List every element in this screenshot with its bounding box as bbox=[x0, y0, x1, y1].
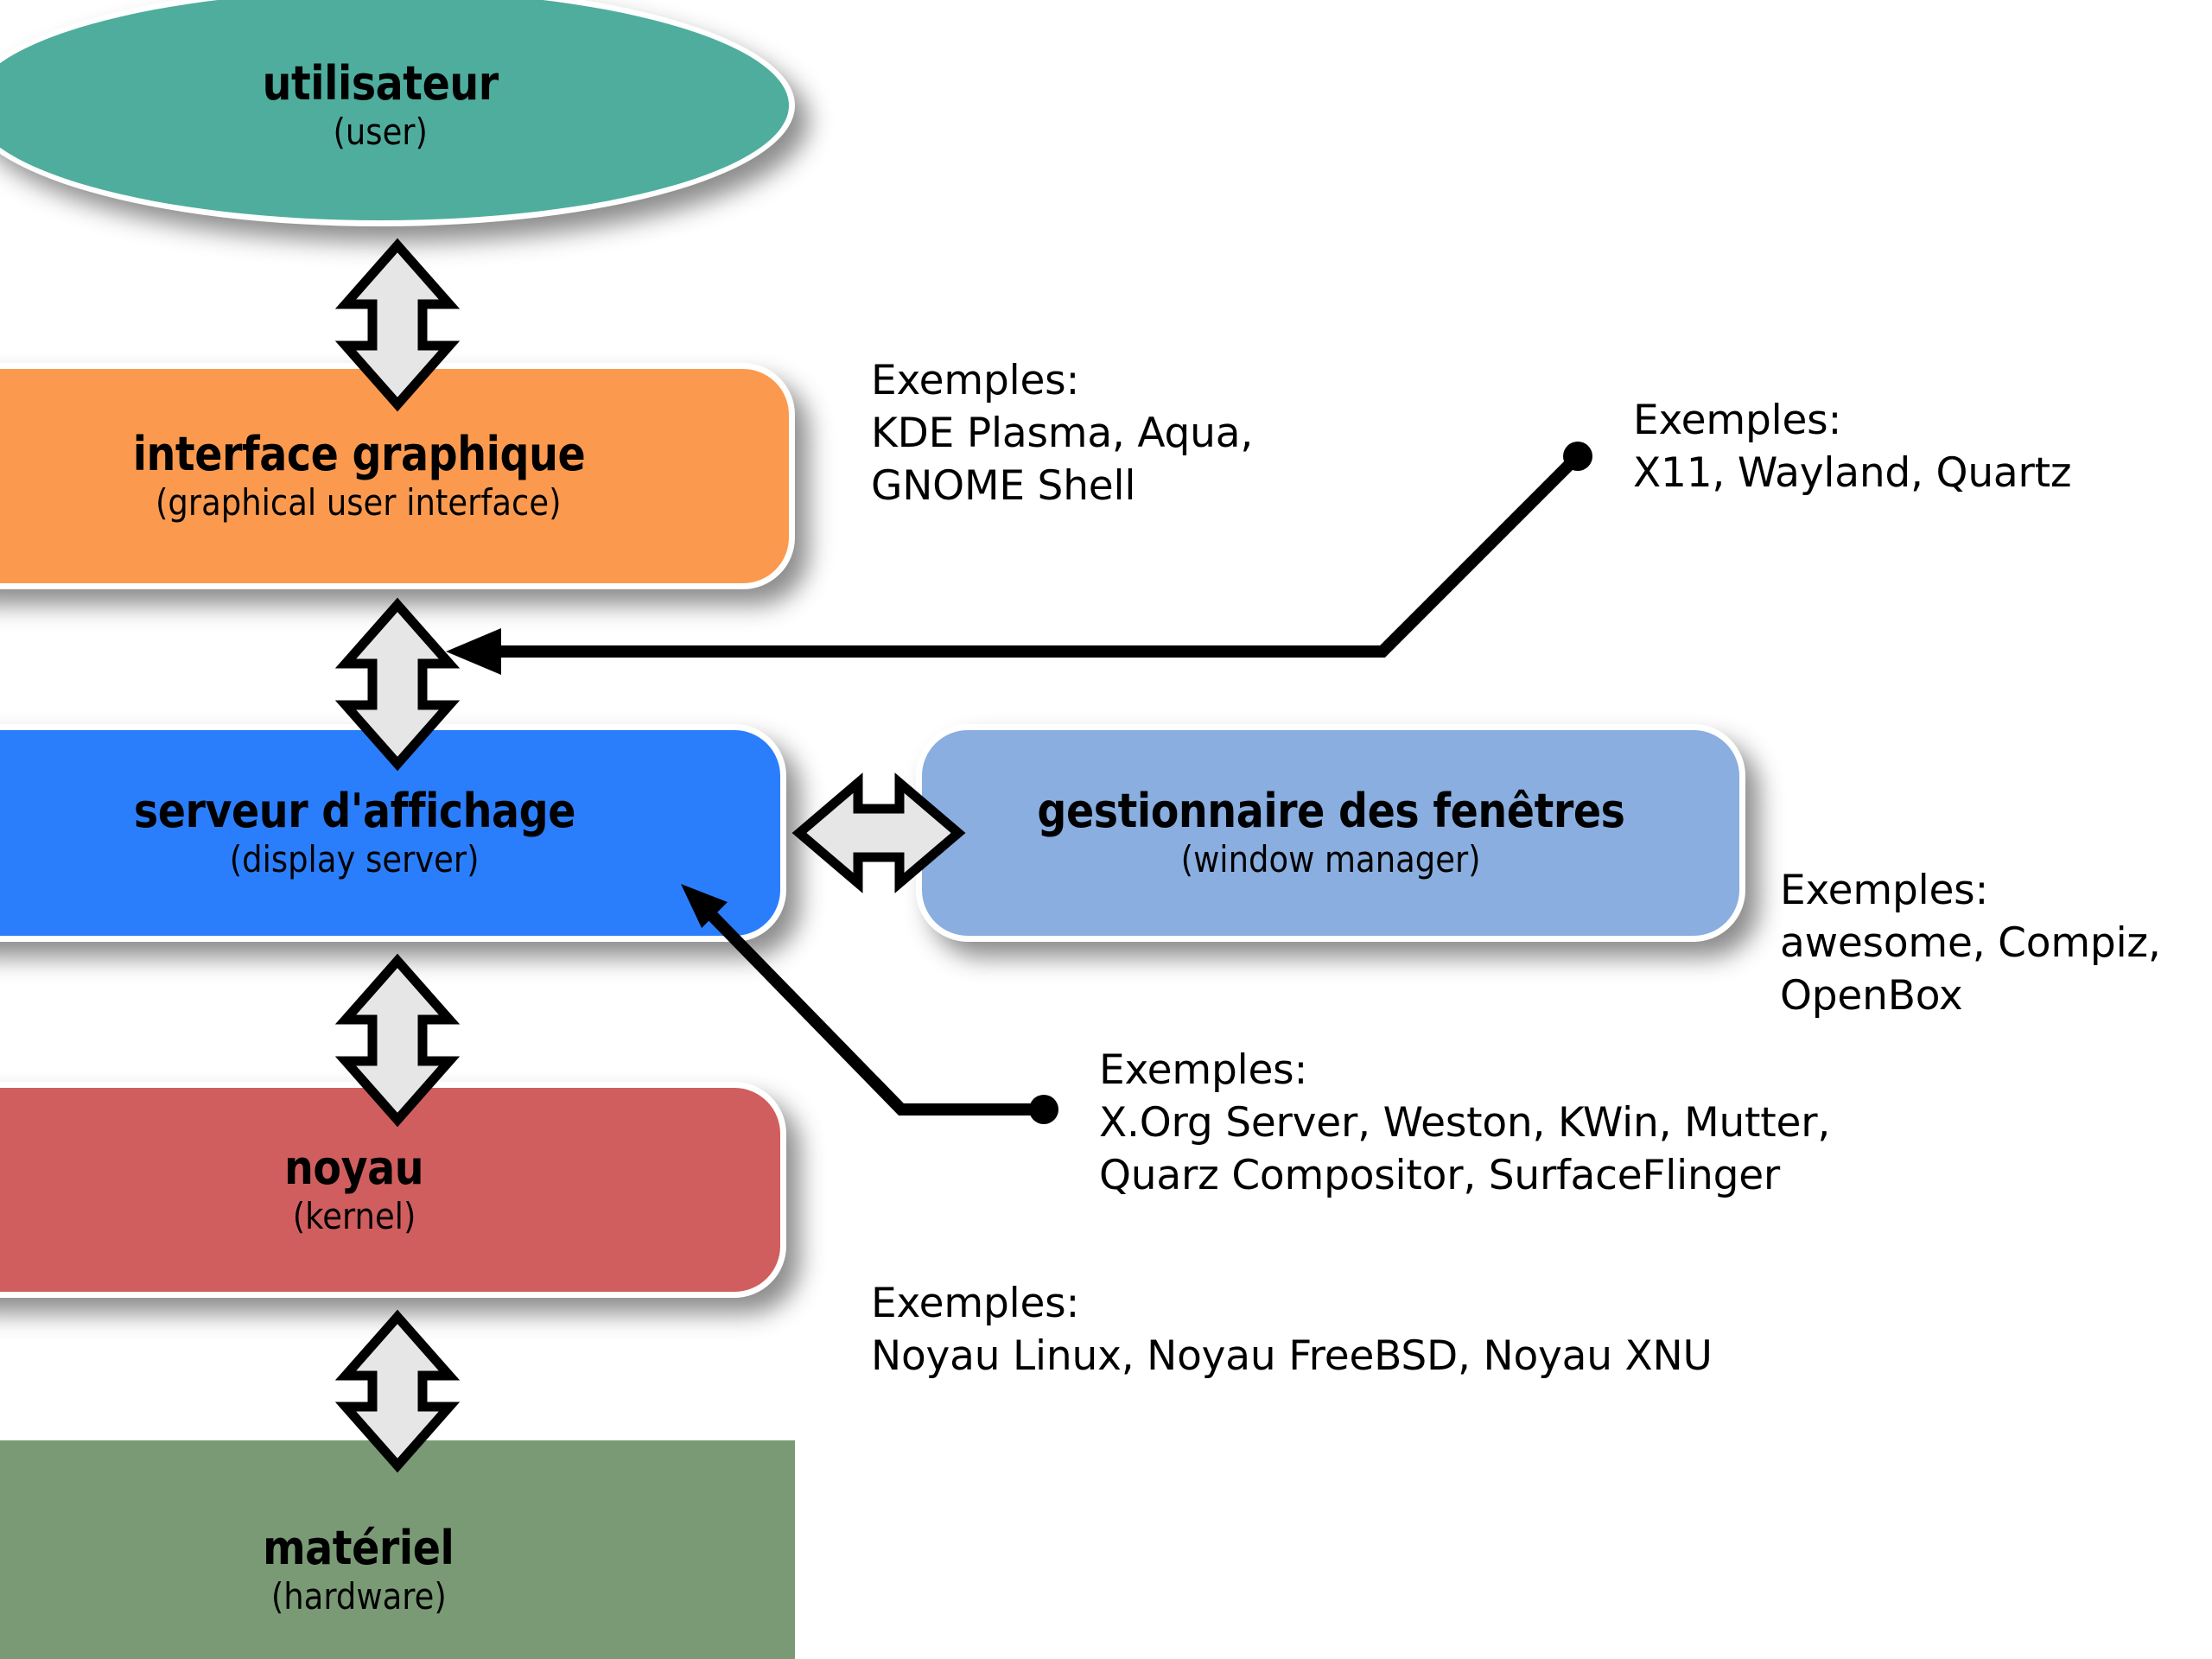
node-materiel-subtitle: (hardware) bbox=[271, 1578, 447, 1616]
node-serveur-daffichage-title: serveur d'affichage bbox=[133, 787, 575, 836]
note-display-protocol-examples: Exemples: X11, Wayland, Quartz bbox=[1633, 394, 2203, 499]
node-gestionnaire-des-fenetres-subtitle: (window manager) bbox=[1181, 841, 1481, 879]
node-gestionnaire-des-fenetres[interactable]: gestionnaire des fenêtres (window manage… bbox=[916, 724, 1745, 942]
node-serveur-daffichage-subtitle: (display server) bbox=[230, 841, 480, 879]
note-display-server-examples: Exemples: X.Org Server, Weston, KWin, Mu… bbox=[1099, 1044, 2067, 1202]
node-utilisateur-subtitle: (user) bbox=[333, 113, 427, 151]
node-interface-graphique-subtitle: (graphical user interface) bbox=[156, 484, 561, 522]
node-materiel[interactable]: matériel (hardware) bbox=[0, 1440, 795, 1659]
node-utilisateur-title: utilisateur bbox=[262, 60, 498, 109]
node-interface-graphique-title: interface graphique bbox=[132, 430, 585, 480]
node-noyau[interactable]: noyau (kernel) bbox=[0, 1082, 786, 1298]
diagram-canvas: utilisateur (user) interface graphique (… bbox=[0, 0, 2212, 1659]
node-materiel-title: matériel bbox=[263, 1524, 454, 1573]
note-interface-graphique-examples: Exemples: KDE Plasma, Aqua, GNOME Shell bbox=[871, 354, 1493, 512]
note-kernel-examples: Exemples: Noyau Linux, Noyau FreeBSD, No… bbox=[871, 1277, 1908, 1382]
node-gestionnaire-des-fenetres-title: gestionnaire des fenêtres bbox=[1037, 787, 1624, 836]
node-noyau-title: noyau bbox=[284, 1144, 423, 1193]
node-utilisateur[interactable]: utilisateur (user) bbox=[0, 0, 795, 226]
node-interface-graphique[interactable]: interface graphique (graphical user inte… bbox=[0, 363, 795, 589]
node-noyau-subtitle: (kernel) bbox=[293, 1198, 416, 1236]
note-window-manager-examples: Exemples: awesome, Compiz, OpenBox bbox=[1780, 864, 2212, 1022]
node-serveur-daffichage[interactable]: serveur d'affichage (display server) bbox=[0, 724, 786, 942]
